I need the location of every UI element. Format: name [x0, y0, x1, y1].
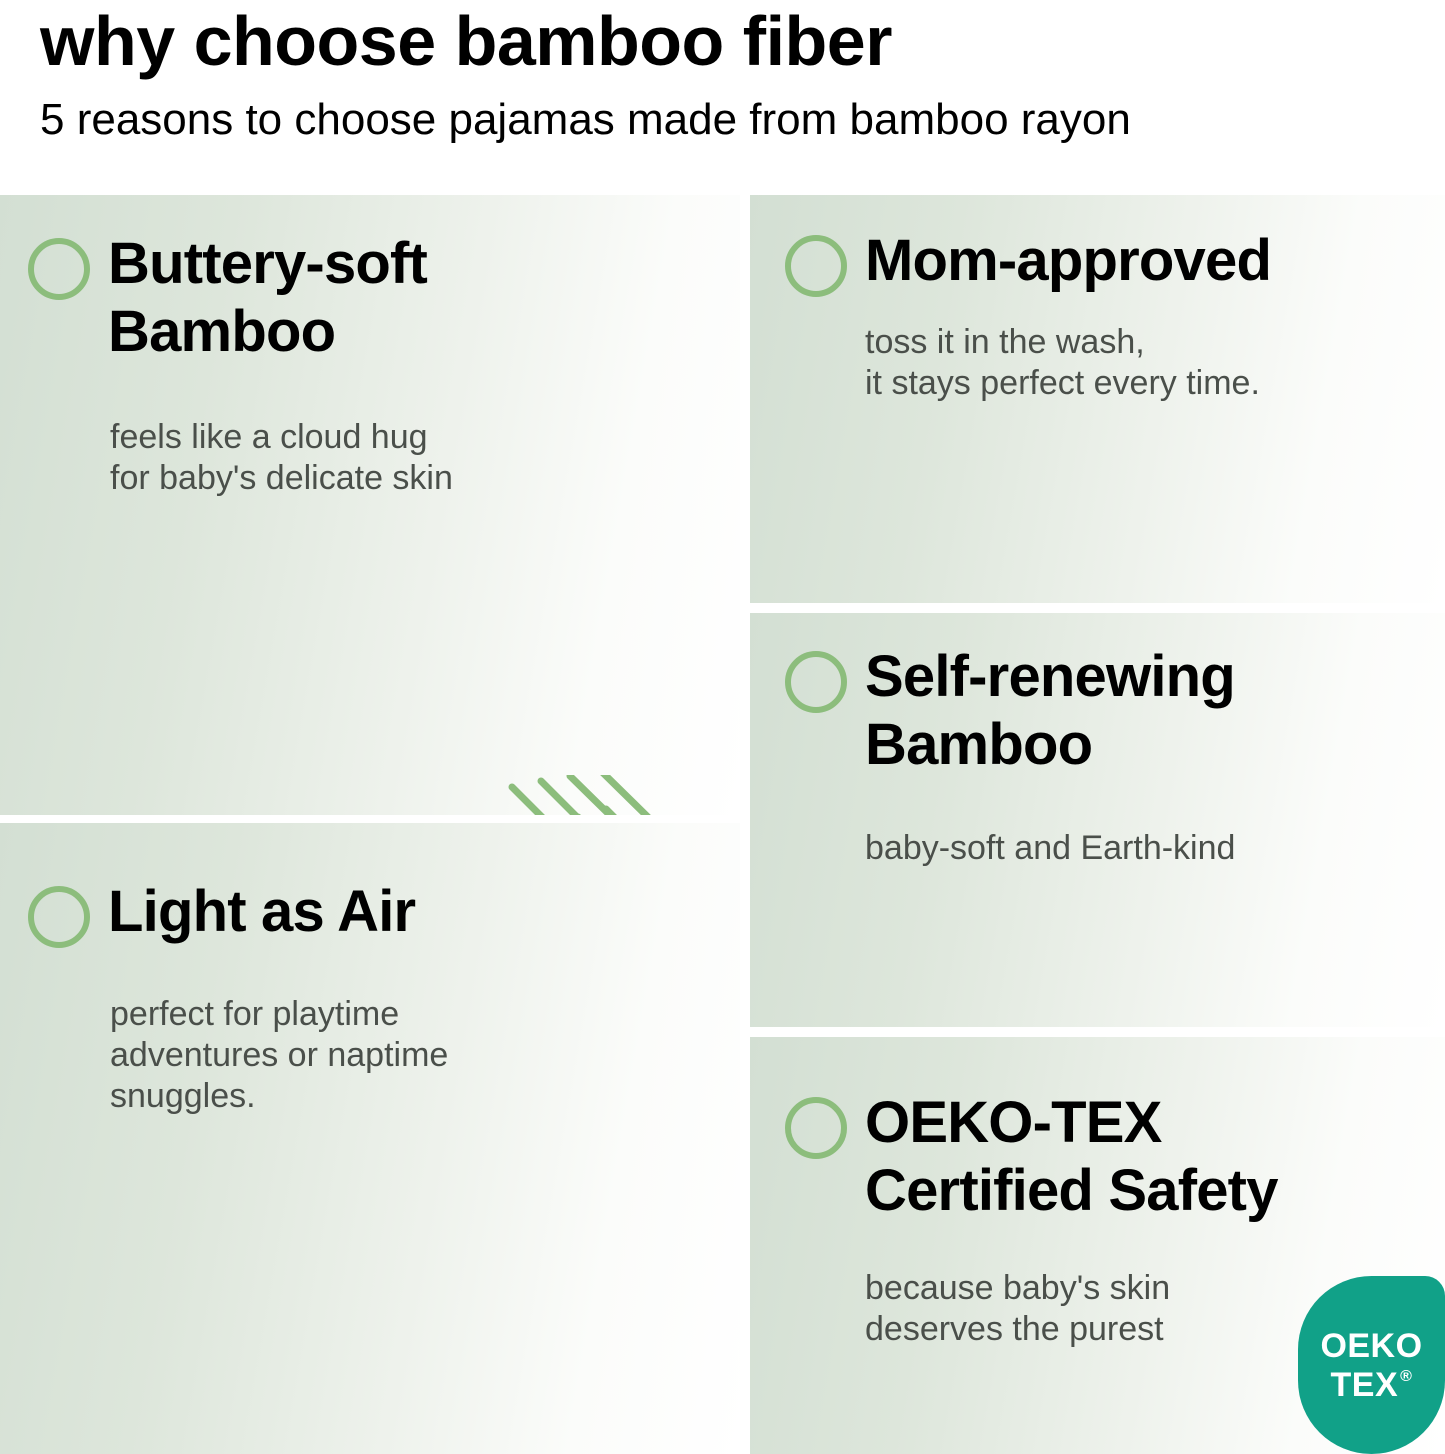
feature-card-grid: Buttery-soft Bamboo feels like a cloud h…: [0, 0, 1445, 1454]
ring-bullet-icon: [785, 651, 847, 713]
card-title: Mom-approved: [847, 227, 1271, 295]
registered-trademark-icon: ®: [1400, 1369, 1412, 1385]
feature-card-light-as-air: Light as Air perfect for playtime advent…: [0, 823, 740, 1454]
oeko-tex-badge: OEKO TEX ®: [1298, 1276, 1445, 1454]
oeko-badge-line2: TEX ®: [1331, 1368, 1413, 1402]
card-title: Light as Air: [90, 878, 415, 946]
ring-bullet-icon: [785, 235, 847, 297]
card-heading-row: Self-renewing Bamboo: [750, 613, 1445, 780]
card-description: baby-soft and Earth-kind: [750, 780, 1445, 869]
ring-bullet-icon: [28, 238, 90, 300]
ring-bullet-icon: [28, 886, 90, 948]
card-description: perfect for playtime adventures or napti…: [0, 948, 740, 1116]
feature-card-self-renewing-bamboo: Self-renewing Bamboo baby-soft and Earth…: [750, 613, 1445, 1027]
hand-soft-touch-icon: [460, 775, 715, 815]
ring-bullet-icon: [785, 1097, 847, 1159]
oeko-badge-line1: OEKO: [1320, 1329, 1422, 1363]
feature-card-mom-approved: Mom-approved toss it in the wash, it sta…: [750, 195, 1445, 603]
card-description: toss it in the wash, it stays perfect ev…: [750, 297, 1445, 404]
feature-card-buttery-soft-bamboo: Buttery-soft Bamboo feels like a cloud h…: [0, 195, 740, 815]
oeko-badge-line2-text: TEX: [1331, 1368, 1399, 1402]
card-heading-row: Buttery-soft Bamboo: [0, 195, 740, 367]
card-description: feels like a cloud hug for baby's delica…: [0, 367, 740, 499]
card-title: Self-renewing Bamboo: [847, 643, 1235, 780]
card-heading-row: Light as Air: [0, 823, 740, 948]
card-heading-row: Mom-approved: [750, 195, 1445, 297]
card-title: Buttery-soft Bamboo: [90, 230, 427, 367]
card-heading-row: OEKO-TEX Certified Safety: [750, 1037, 1445, 1226]
card-title: OEKO-TEX Certified Safety: [847, 1089, 1278, 1226]
